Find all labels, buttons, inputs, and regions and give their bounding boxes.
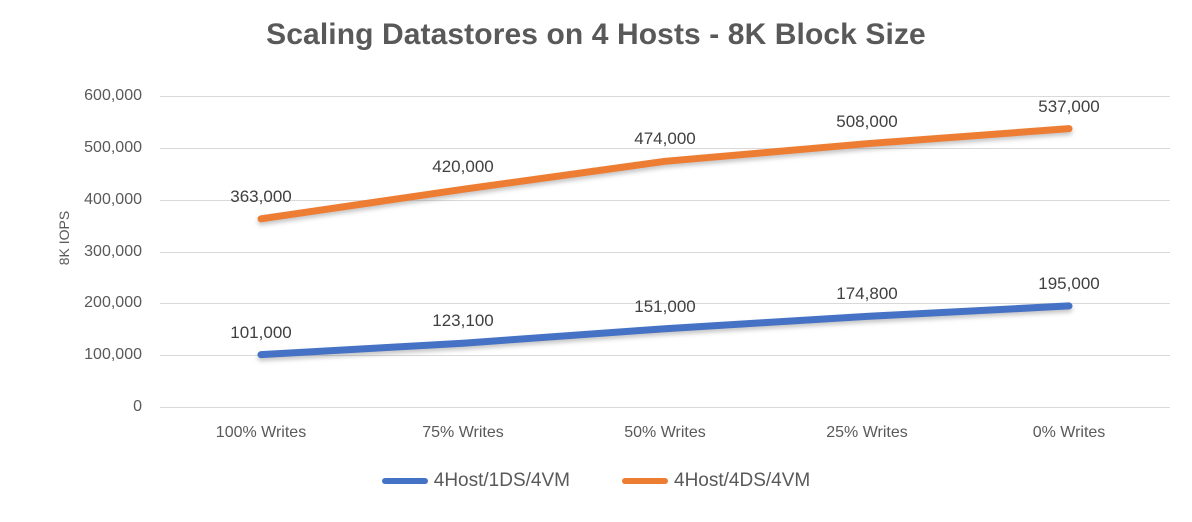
data-label: 195,000 xyxy=(1038,274,1099,294)
data-label: 363,000 xyxy=(230,187,291,207)
x-axis-tick-label: 100% Writes xyxy=(160,424,362,450)
data-label: 537,000 xyxy=(1038,97,1099,117)
y-axis-tick-label: 400,000 xyxy=(84,191,142,209)
data-label: 474,000 xyxy=(634,129,695,149)
data-label: 123,100 xyxy=(432,311,493,331)
legend-swatch-icon xyxy=(382,478,428,484)
y-axis-tick-label: 200,000 xyxy=(84,294,142,312)
x-axis-tick-labels: 100% Writes75% Writes50% Writes25% Write… xyxy=(160,424,1170,450)
data-label: 151,000 xyxy=(634,297,695,317)
data-label: 174,800 xyxy=(836,284,897,304)
legend-label: 4Host/1DS/4VM xyxy=(434,470,570,492)
chart-title: Scaling Datastores on 4 Hosts - 8K Block… xyxy=(0,18,1192,52)
x-axis-tick-label: 25% Writes xyxy=(766,424,968,450)
data-label: 508,000 xyxy=(836,112,897,132)
plot-area: 101,000123,100151,000174,800195,000363,0… xyxy=(160,96,1170,407)
chart-legend: 4Host/1DS/4VM4Host/4DS/4VM xyxy=(0,470,1192,492)
legend-swatch-icon xyxy=(622,478,668,484)
y-axis-tick-label: 600,000 xyxy=(84,87,142,105)
y-axis-tick-label: 300,000 xyxy=(84,243,142,261)
x-axis-tick-label: 0% Writes xyxy=(968,424,1170,450)
legend-item-1[interactable]: 4Host/1DS/4VM xyxy=(382,470,570,492)
y-axis-tick-label: 100,000 xyxy=(84,346,142,364)
chart-container: Scaling Datastores on 4 Hosts - 8K Block… xyxy=(0,0,1192,522)
data-label: 101,000 xyxy=(230,323,291,343)
legend-item-2[interactable]: 4Host/4DS/4VM xyxy=(622,470,810,492)
data-label: 420,000 xyxy=(432,157,493,177)
x-axis-tick-label: 50% Writes xyxy=(564,424,766,450)
gridline xyxy=(160,407,1170,408)
legend-label: 4Host/4DS/4VM xyxy=(674,470,810,492)
y-axis-tick-label: 500,000 xyxy=(84,139,142,157)
x-axis-tick-label: 75% Writes xyxy=(362,424,564,450)
y-axis-tick-labels: 0100,000200,000300,000400,000500,000600,… xyxy=(0,96,150,407)
y-axis-tick-label: 0 xyxy=(133,398,142,416)
